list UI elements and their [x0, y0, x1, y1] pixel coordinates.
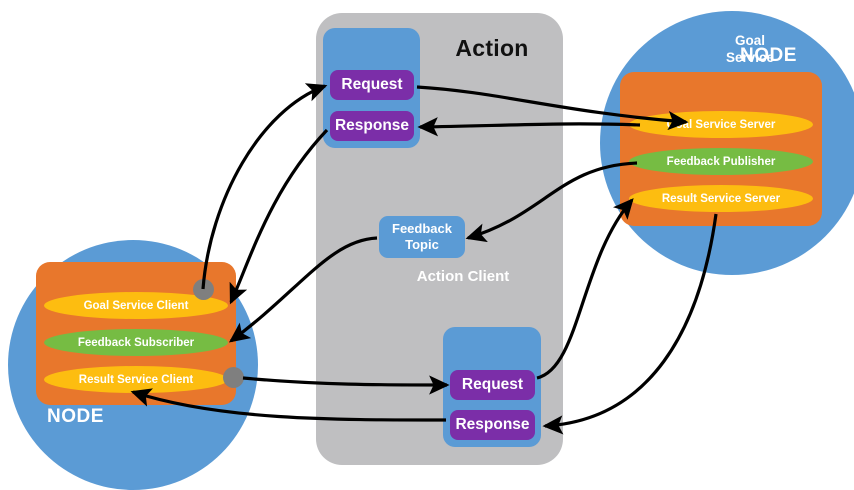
pill-feedback-subscriber[interactable]: Feedback Subscriber: [44, 329, 228, 356]
goal-service-title-line1: Goal: [323, 32, 854, 49]
goal-service-title: Goal Service: [323, 32, 854, 66]
result-service-title: Result Service: [443, 331, 854, 365]
pill-feedback-publisher[interactable]: Feedback Publisher: [629, 148, 813, 175]
node-label-client: NODE: [47, 406, 104, 428]
connector-dot-result: [223, 367, 244, 388]
arrow-client-to-goal-request: [203, 86, 325, 289]
diagram-canvas: Action NODE Action Sever Goal Service Se…: [0, 0, 854, 480]
pill-goal-service-server[interactable]: Goal Service Server: [629, 111, 813, 138]
pill-result-service-client[interactable]: Result Service Client: [44, 366, 228, 393]
action-server-title: Action Sever: [620, 82, 854, 99]
feedback-topic-line1: Feedback: [392, 221, 452, 237]
result-service-request[interactable]: Request: [450, 370, 535, 400]
feedback-topic-box[interactable]: Feedback Topic: [379, 216, 465, 258]
goal-service-response[interactable]: Response: [330, 111, 414, 141]
action-client-title: Action Client: [36, 268, 854, 285]
goal-service-title-line2: Service: [323, 49, 854, 66]
result-service-title-line1: Result: [443, 331, 854, 348]
result-service-response[interactable]: Response: [450, 410, 535, 440]
connector-dot-goal: [193, 279, 214, 300]
result-service-title-line2: Service: [443, 348, 854, 365]
pill-result-service-server[interactable]: Result Service Server: [629, 185, 813, 212]
goal-service-request[interactable]: Request: [330, 70, 414, 100]
feedback-topic-line2: Topic: [392, 237, 452, 253]
